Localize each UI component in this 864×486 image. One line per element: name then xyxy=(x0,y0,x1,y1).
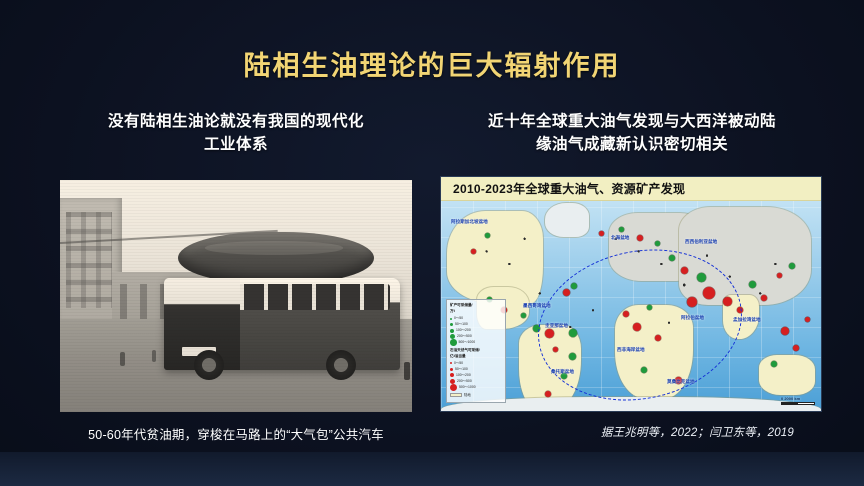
map-marker-oil xyxy=(761,295,767,301)
map-marker-oil xyxy=(563,289,570,296)
map-marker-oil xyxy=(781,327,789,335)
legend-size-label: 500～1000 xyxy=(459,340,476,345)
legend-oil-unit: 亿t油当量 xyxy=(450,354,502,359)
map-marker-mineral xyxy=(619,227,624,232)
left-subtitle-line-1: 没有陆相生油论就没有我国的现代化 xyxy=(40,110,432,133)
legend-mineral-dot-icon xyxy=(450,323,453,326)
map-landmass-asia xyxy=(679,207,811,305)
right-panel: 近十年全球重大油气发现与大西洋被动陆 缘油气成藏新认识密切相关 xyxy=(434,110,830,156)
legend-size-label: 100～200 xyxy=(456,328,471,333)
legend-mineral-title: 矿产可采储量/ xyxy=(450,303,502,308)
right-subtitle: 近十年全球重大油气发现与大西洋被动陆 缘油气成藏新认识密切相关 xyxy=(434,110,830,156)
right-citation: 据王兆明等，2022；闫卫东等，2019 xyxy=(434,424,830,440)
legend-row: 500～1000 xyxy=(450,384,502,390)
legend-size-label: 50～100 xyxy=(455,322,468,327)
legend-size-label: 50～100 xyxy=(455,367,468,372)
map-marker-mineral xyxy=(521,313,526,318)
legend-oil-dot-icon xyxy=(450,379,455,384)
legend-mineral-unit: 万t xyxy=(450,309,502,314)
map-scale-bar: 0 2000 km xyxy=(781,396,815,405)
map-marker-oil xyxy=(723,297,732,306)
map-marker-mineral xyxy=(647,305,652,310)
map-label: 莫桑比克盆地 xyxy=(667,379,695,385)
right-subtitle-line-1: 近十年全球重大油气发现与大西洋被动陆 xyxy=(434,110,830,133)
map-marker-mineral xyxy=(485,233,490,238)
map-marker-oil xyxy=(633,323,641,331)
legend-land-label: 陆地 xyxy=(464,393,471,398)
map-marker-mineral xyxy=(569,353,576,360)
map-label: 圭亚那盆地 xyxy=(545,323,568,329)
map-landmass-greenland xyxy=(545,203,589,237)
map-marker-oil xyxy=(687,297,697,307)
slide-root: 陆相生油理论的巨大辐射作用 没有陆相生油论就没有我国的现代化 工业体系 xyxy=(0,0,864,486)
historical-bus-photo xyxy=(60,180,412,412)
map-label: 墨西哥湾盆地 xyxy=(523,303,551,309)
global-discoveries-map: 阿拉斯加北坡盆地 墨西哥湾盆地 圭亚那盆地 桑托斯盆地 西非海岸盆地 北海盆地 … xyxy=(440,176,822,412)
legend-mineral-dot-icon xyxy=(450,339,457,346)
map-marker-oil xyxy=(737,307,743,313)
map-marker-mineral xyxy=(777,273,782,278)
legend-row: 500～1000 xyxy=(450,340,502,346)
legend-size-label: 0～50 xyxy=(454,316,463,321)
legend-oil-dot-icon xyxy=(450,373,454,377)
map-marker-mineral xyxy=(533,325,540,332)
map-marker-oil xyxy=(553,347,558,352)
legend-size-label: 200～500 xyxy=(457,334,472,339)
map-marker-mineral xyxy=(697,273,706,282)
left-subtitle: 没有陆相生油论就没有我国的现代化 工业体系 xyxy=(40,110,432,156)
map-marker-mineral xyxy=(749,281,756,288)
page-title: 陆相生油理论的巨大辐射作用 xyxy=(0,44,864,83)
photo-film-grain xyxy=(60,180,412,412)
left-subtitle-line-2: 工业体系 xyxy=(40,133,432,156)
map-marker-oil xyxy=(681,267,688,274)
legend-row: 陆地 xyxy=(450,392,502,398)
legend-size-label: 0～50 xyxy=(454,361,463,366)
left-caption: 50-60年代贫油期，穿梭在马路上的“大气包”公共汽车 xyxy=(40,424,432,443)
map-marker-mineral xyxy=(789,263,795,269)
map-label: 西西伯利亚盆地 xyxy=(685,239,717,245)
map-landmass-australia xyxy=(759,355,815,395)
map-marker-mineral xyxy=(669,255,675,261)
left-panel: 没有陆相生油论就没有我国的现代化 工业体系 xyxy=(40,110,432,156)
map-label: 桑托斯盆地 xyxy=(551,369,574,375)
map-legend: 矿产可采储量/ 万t 0～50 50～100 100～200 200～500 5… xyxy=(446,299,506,403)
map-marker-oil xyxy=(703,287,715,299)
map-marker-oil xyxy=(805,317,810,322)
slide-bottom-band xyxy=(0,452,864,486)
map-label: 阿拉斯加北坡盆地 xyxy=(451,219,488,225)
map-marker-oil xyxy=(545,391,551,397)
map-marker-mineral xyxy=(655,241,660,246)
legend-oil-dot-icon xyxy=(450,384,457,391)
legend-oil-dot-icon xyxy=(450,368,453,371)
map-marker-oil xyxy=(655,335,661,341)
legend-mineral-dot-icon xyxy=(450,318,452,320)
map-label: 北海盆地 xyxy=(611,235,629,241)
map-marker-mineral xyxy=(771,361,777,367)
legend-size-label: 500～1000 xyxy=(459,385,476,390)
map-marker-mineral xyxy=(569,329,577,337)
map-marker-oil xyxy=(545,329,554,338)
map-label: 孟加拉湾盆地 xyxy=(733,317,761,323)
photo-canvas xyxy=(60,180,412,412)
legend-oil-dot-icon xyxy=(450,362,452,364)
legend-mineral-dot-icon xyxy=(450,334,455,339)
legend-land-swatch-icon xyxy=(450,393,462,397)
map-marker-oil xyxy=(793,345,799,351)
legend-size-label: 200～500 xyxy=(457,379,472,384)
map-marker-oil xyxy=(623,311,629,317)
map-marker-oil xyxy=(471,249,476,254)
map-marker-oil xyxy=(599,231,604,236)
map-scale-bar-graphic xyxy=(781,402,815,405)
map-label: 阿拉伯盆地 xyxy=(681,315,704,321)
map-label: 西非海岸盆地 xyxy=(617,347,645,353)
map-marker-mineral xyxy=(571,283,577,289)
map-marker-mineral xyxy=(641,367,647,373)
legend-mineral-dot-icon xyxy=(450,329,454,333)
legend-oil-title: 石油天然气可采储/ xyxy=(450,348,502,353)
map-scale-label: 0 2000 km xyxy=(781,396,800,401)
map-title: 2010-2023年全球重大油气、资源矿产发现 xyxy=(441,177,821,201)
right-subtitle-line-2: 缘油气成藏新认识密切相关 xyxy=(434,133,830,156)
legend-size-label: 100～200 xyxy=(456,373,471,378)
map-marker-oil xyxy=(637,235,643,241)
